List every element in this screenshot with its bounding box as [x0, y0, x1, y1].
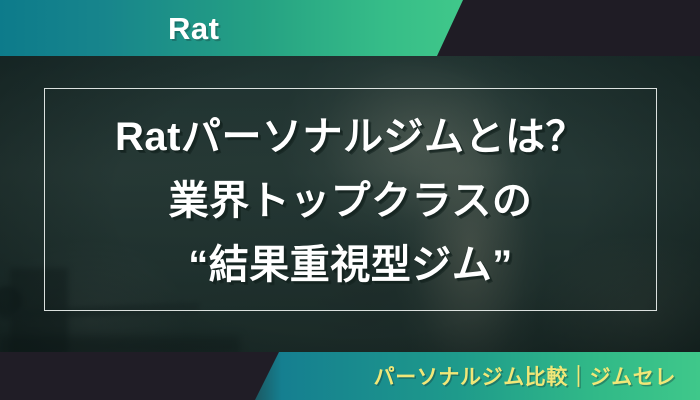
- site-caption: パーソナルジム比較｜ジムセレ: [0, 352, 700, 400]
- headline-block: Ratパーソナルジムとは？ 業界トップクラスの “結果重視型ジム”: [44, 93, 657, 308]
- headline-line-2: 業界トップクラスの: [169, 170, 533, 232]
- bottom-bar: パーソナルジム比較｜ジムセレ: [0, 352, 700, 400]
- headline-line-1: Ratパーソナルジムとは？: [115, 106, 586, 168]
- top-banner: Rat: [0, 0, 700, 56]
- eyecatch-banner: Rat Ratパーソナルジムとは？ 業界トップクラスの “結果重視型ジム” パー…: [0, 0, 700, 400]
- brand-title: Rat: [168, 10, 219, 48]
- headline-line-3: “結果重視型ジム”: [188, 234, 513, 296]
- top-banner-gradient-shape: [0, 0, 470, 56]
